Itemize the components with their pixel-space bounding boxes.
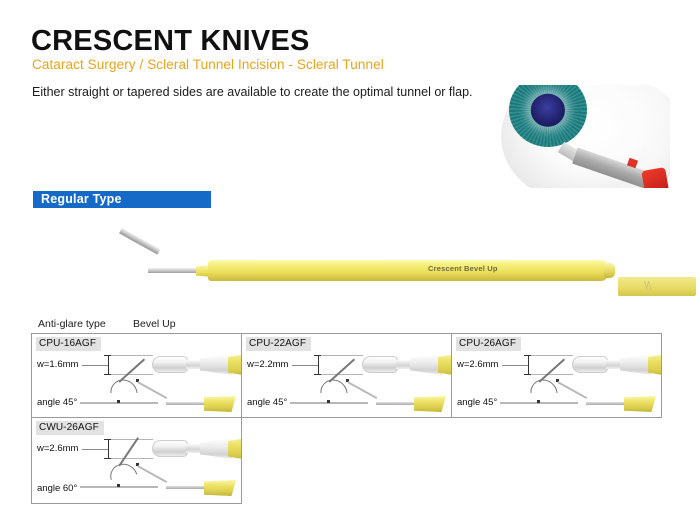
angle-vertex-marker (117, 484, 120, 487)
section-banner-regular-type: Regular Type (31, 189, 213, 210)
angle-vertex-marker (537, 400, 540, 403)
angle-handle-stub (204, 396, 236, 412)
blade-angle-diagram (80, 462, 242, 500)
blade-angle-diagram (500, 378, 662, 416)
spec-cell-cpu-26agf[interactable]: CPU-26AGF w=2.6mm angle 45° (451, 333, 662, 418)
width-bracket (108, 440, 109, 458)
product-code: CPU-16AGF (36, 337, 101, 351)
angle-label: angle 45° (247, 397, 287, 408)
blade-top-view (572, 352, 662, 380)
width-label: w=2.6mm (37, 443, 78, 454)
width-bracket (108, 356, 109, 374)
spec-cell-cwu-26agf[interactable]: CWU-26AGF w=2.6mm angle 60° (31, 417, 242, 504)
product-code: CPU-26AGF (456, 337, 521, 351)
angle-shaft-rod (376, 402, 418, 405)
blade-top-view (152, 352, 242, 380)
instrument-logo-panel: \/\ (618, 277, 696, 296)
instrument-handle-text: Crescent Bevel Up (428, 264, 498, 273)
angle-handle-stub (624, 396, 656, 412)
table-caption-anti-glare: Anti-glare type (38, 318, 106, 330)
angle-blade-edge (138, 381, 168, 399)
spec-grid: CPU-16AGF w=1.6mm angle 45° (31, 333, 665, 504)
blade-hub (152, 440, 188, 457)
angle-blade-edge (348, 381, 378, 399)
angle-blade-edge (138, 465, 168, 483)
width-label: w=2.2mm (247, 359, 288, 370)
width-guide-top (111, 439, 153, 440)
product-code: CWU-26AGF (36, 421, 104, 435)
eye-marker (641, 167, 668, 188)
angle-label: angle 45° (457, 397, 497, 408)
angle-vertex-marker (117, 400, 120, 403)
blade-flare (200, 354, 232, 375)
spec-cell-cpu-22agf[interactable]: CPU-22AGF w=2.2mm angle 45° (241, 333, 452, 418)
width-guide-top (321, 355, 363, 356)
leader-line (82, 449, 108, 450)
section-banner-label: Regular Type (41, 192, 122, 206)
width-guide-bottom (321, 374, 363, 375)
instrument-shaft (148, 268, 204, 273)
blade-flare (200, 438, 232, 459)
spec-cell-cpu-16agf[interactable]: CPU-16AGF w=1.6mm angle 45° (31, 333, 242, 418)
blade-neck (396, 360, 412, 369)
blade-flare (620, 354, 652, 375)
blade-hub (362, 356, 398, 373)
instrument-end-cap (604, 263, 615, 278)
width-guide-top (531, 355, 573, 356)
blade-angle-diagram (290, 378, 452, 416)
brand-logo-icon: \/\ (644, 281, 670, 291)
instrument-handle: \/\ (208, 260, 608, 281)
angle-shaft-rod (586, 402, 628, 405)
leader-line (502, 365, 528, 366)
intro-text: Either straight or tapered sides are ava… (32, 85, 473, 99)
angle-label: angle 60° (37, 483, 77, 494)
blade-hub (572, 356, 608, 373)
leader-line (82, 365, 108, 366)
width-guide-top (111, 355, 153, 356)
eye-pupil (531, 94, 565, 127)
angle-shaft-rod (166, 402, 208, 405)
width-label: w=1.6mm (37, 359, 78, 370)
angle-arm (538, 358, 564, 382)
blade-top-view (362, 352, 452, 380)
eye-illustration (495, 85, 670, 188)
blade-hub (152, 356, 188, 373)
angle-blade-edge (558, 381, 588, 399)
spec-row: CPU-16AGF w=1.6mm angle 45° (31, 333, 665, 418)
page-subtitle: Cataract Surgery / Scleral Tunnel Incisi… (32, 57, 384, 72)
blade-angle-diagram (80, 378, 242, 416)
width-guide-bottom (531, 374, 573, 375)
angle-handle-stub (204, 480, 236, 496)
blade-flare (410, 354, 442, 375)
blade-top-view (152, 436, 242, 464)
page-title: CRESCENT KNIVES (31, 27, 310, 56)
angle-label: angle 45° (37, 397, 77, 408)
eye-iris (509, 85, 587, 147)
width-guide-bottom (111, 458, 153, 459)
instrument-illustration: \/\ Crescent Bevel Up (110, 244, 630, 300)
angle-vertex-marker (327, 400, 330, 403)
blade-neck (186, 444, 202, 453)
width-bracket (528, 356, 529, 374)
angle-shaft-rod (166, 486, 208, 489)
width-label: w=2.6mm (457, 359, 498, 370)
blade-neck (186, 360, 202, 369)
product-code: CPU-22AGF (246, 337, 311, 351)
leader-line (292, 365, 318, 366)
angle-arm (118, 358, 144, 382)
angle-arm (328, 358, 354, 382)
spec-row: CWU-26AGF w=2.6mm angle 60° (31, 417, 665, 504)
width-guide-bottom (111, 374, 153, 375)
angle-handle-stub (414, 396, 446, 412)
table-caption-bevel-up: Bevel Up (133, 318, 176, 330)
angle-arm (118, 437, 138, 466)
instrument-blade (119, 228, 160, 255)
blade-neck (606, 360, 622, 369)
width-bracket (318, 356, 319, 374)
